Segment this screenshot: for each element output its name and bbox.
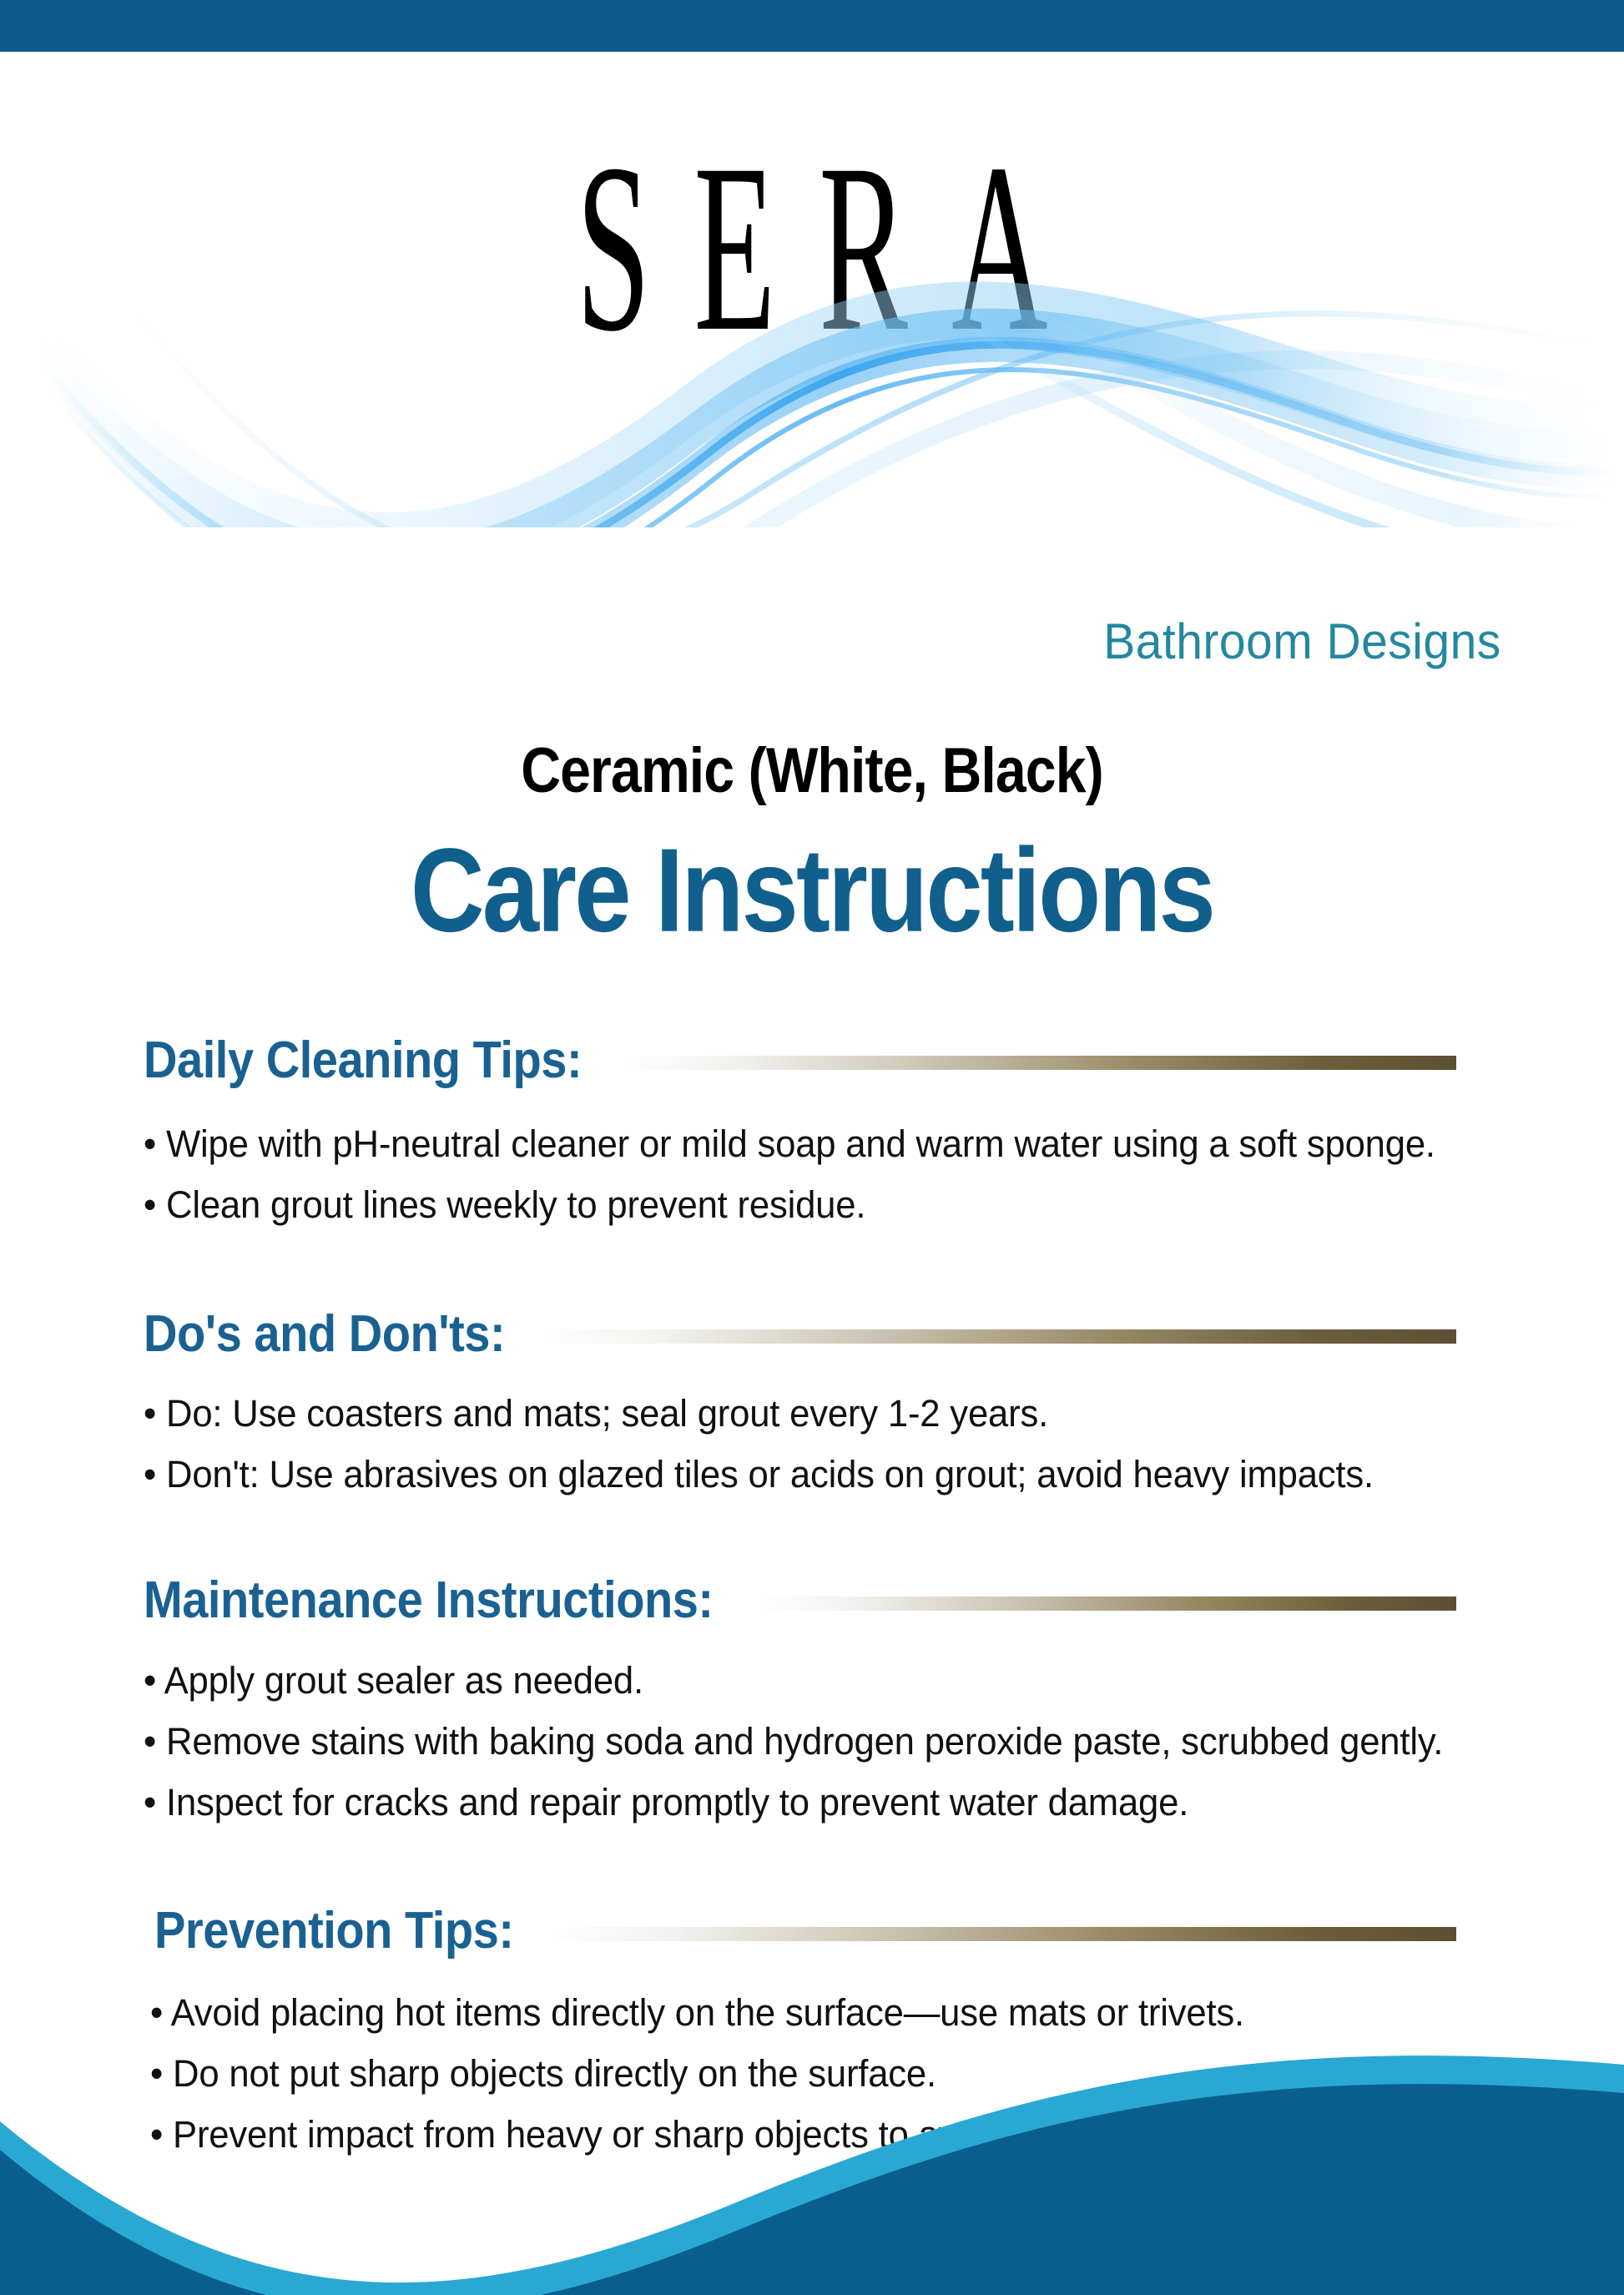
page-title: Care Instructions [57,822,1567,958]
top-accent-bar [0,0,1624,52]
list-item: • Clean grout lines weekly to prevent re… [144,1186,1450,1225]
section-heading-row: Do's and Don'ts: [0,1309,1624,1360]
section-heading-row: Daily Cleaning Tips: [0,1035,1624,1087]
care-instructions-page: SERA [0,0,1624,2295]
section-heading-label: Maintenance Instructions: [144,1574,714,1628]
instructions-content: Daily Cleaning Tips: • Wipe with pH-neut… [0,1035,1624,2155]
section-dos-and-donts: Do's and Don'ts: • Do: Use coasters and … [0,1309,1624,1496]
product-subject-line: Ceramic (White, Black) [65,734,1559,807]
heading-rule-divider [547,1927,1456,1941]
section-heading-row: Maintenance Instructions: [0,1575,1624,1627]
footer-wave-graphic [0,2045,1624,2295]
list-item: • Apply grout sealer as needed. [144,1662,1450,1701]
heading-rule-divider [620,1056,1456,1070]
decorative-wave-ribbon-icon [0,194,1624,527]
heading-rule-divider [759,1596,1456,1611]
list-item: • Avoid placing hot items directly on th… [150,1994,1450,2033]
list-item: • Do: Use coasters and mats; seal grout … [144,1395,1450,1434]
section-bullet-list: • Apply grout sealer as needed. • Remove… [0,1662,1624,1822]
list-item: • Inspect for cracks and repair promptly… [144,1783,1450,1823]
brand-logo-block: SERA [0,52,1624,711]
brand-tagline: Bathroom Designs [81,613,1624,670]
section-heading-label: Prevention Tips: [154,1904,514,1959]
list-item: • Don't: Use abrasives on glazed tiles o… [144,1455,1450,1495]
list-item: • Remove stains with baking soda and hyd… [144,1723,1450,1762]
heading-rule-divider [539,1329,1456,1344]
section-bullet-list: • Wipe with pH-neutral cleaner or mild s… [0,1125,1624,1225]
section-maintenance-instructions: Maintenance Instructions: • Apply grout … [0,1575,1624,1822]
section-daily-cleaning-tips: Daily Cleaning Tips: • Wipe with pH-neut… [0,1035,1624,1225]
section-heading-label: Do's and Don'ts: [144,1307,505,1361]
section-heading-label: Daily Cleaning Tips: [144,1033,582,1087]
section-heading-row: Prevention Tips: [0,1905,1624,1957]
section-bullet-list: • Do: Use coasters and mats; seal grout … [0,1395,1624,1495]
list-item: • Wipe with pH-neutral cleaner or mild s… [144,1125,1450,1164]
